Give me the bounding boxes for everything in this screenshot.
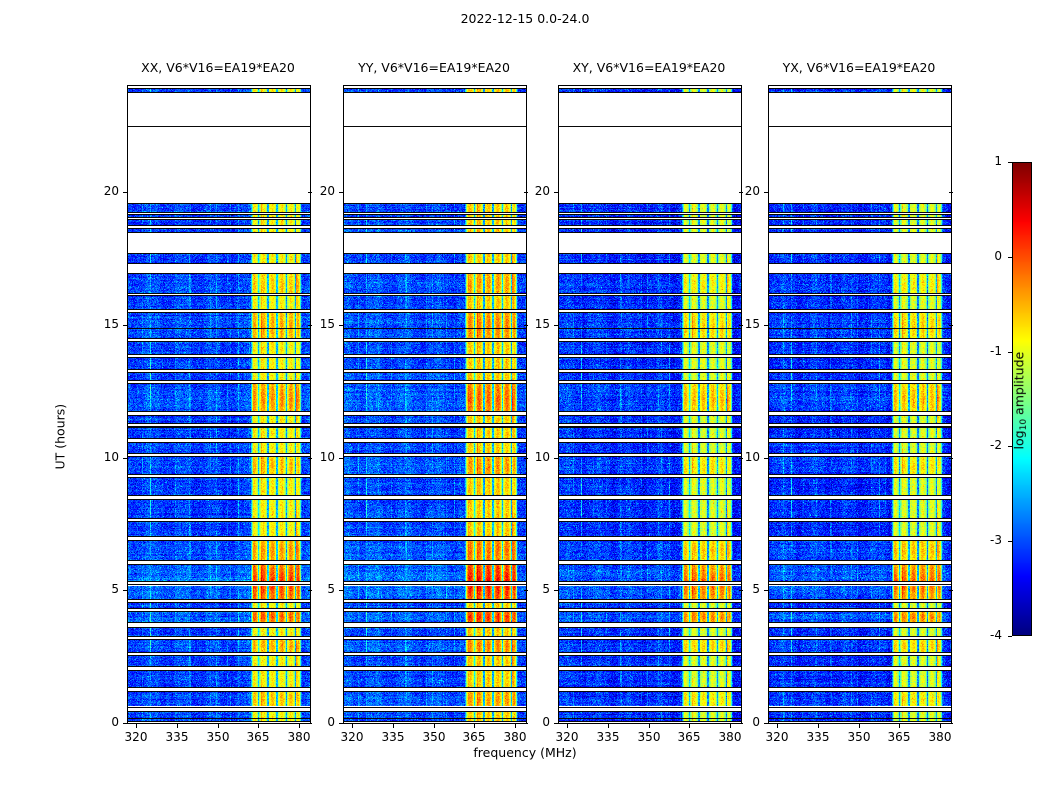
x-tick-label: 350 (198, 730, 238, 744)
y-tick-label: 15 (309, 317, 335, 331)
waterfall-panel-xx[interactable] (127, 85, 311, 724)
colorbar-tick (1008, 636, 1012, 637)
colorbar-tick (1008, 162, 1012, 163)
colorbar-tick (1008, 541, 1012, 542)
x-tick-label: 350 (414, 730, 454, 744)
y-tick (554, 723, 558, 724)
x-tick-label: 350 (629, 730, 669, 744)
x-tick-label: 380 (495, 730, 535, 744)
y-tick-label: 10 (93, 450, 119, 464)
y-tick-label: 0 (524, 715, 550, 729)
y-tick (764, 723, 768, 724)
x-tick-label: 365 (669, 730, 709, 744)
y-tick (123, 723, 127, 724)
panel-title-xx: XX, V6*V16=EA19*EA20 (97, 60, 339, 75)
y-tick (764, 590, 768, 591)
y-tick-right (949, 325, 953, 326)
y-tick (339, 590, 343, 591)
y-tick-label: 0 (734, 715, 760, 729)
x-tick-label: 350 (839, 730, 879, 744)
y-tick-label: 15 (734, 317, 760, 331)
y-tick-right (949, 458, 953, 459)
x-tick (608, 724, 609, 728)
colorbar-tick-label: -2 (976, 438, 1002, 452)
x-tick (859, 724, 860, 728)
x-tick-label: 380 (920, 730, 960, 744)
y-tick (123, 325, 127, 326)
colorbar-tick (1008, 257, 1012, 258)
x-tick (352, 724, 353, 728)
x-tick (474, 724, 475, 728)
y-tick (123, 192, 127, 193)
y-tick (764, 458, 768, 459)
x-tick (649, 724, 650, 728)
colorbar-tick-label: -4 (976, 628, 1002, 642)
colorbar-tick-label: 0 (976, 249, 1002, 263)
x-tick-label: 320 (116, 730, 156, 744)
y-tick-right (949, 192, 953, 193)
y-tick (123, 590, 127, 591)
y-tick-label: 5 (93, 582, 119, 596)
x-tick-label: 335 (373, 730, 413, 744)
x-tick (777, 724, 778, 728)
x-tick (258, 724, 259, 728)
y-tick (339, 723, 343, 724)
x-tick (299, 724, 300, 728)
x-tick-label: 335 (798, 730, 838, 744)
y-tick (554, 192, 558, 193)
x-tick-label: 365 (238, 730, 278, 744)
figure-suptitle: 2022-12-15 0.0-24.0 (0, 11, 1050, 26)
x-axis-label: frequency (MHz) (325, 745, 725, 760)
waterfall-panel-xy[interactable] (558, 85, 742, 724)
y-tick-label: 5 (734, 582, 760, 596)
waterfall-image-yx (769, 86, 951, 723)
waterfall-panel-yx[interactable] (768, 85, 952, 724)
x-tick (818, 724, 819, 728)
x-tick (177, 724, 178, 728)
y-tick (554, 325, 558, 326)
x-tick-label: 320 (547, 730, 587, 744)
waterfall-image-xx (128, 86, 310, 723)
panel-title-yx: YX, V6*V16=EA19*EA20 (738, 60, 980, 75)
x-tick (434, 724, 435, 728)
y-tick-label: 10 (734, 450, 760, 464)
y-axis-label: UT (hours) (53, 330, 68, 470)
x-tick-label: 335 (588, 730, 628, 744)
colorbar-tick-label: -3 (976, 533, 1002, 547)
y-tick-label: 10 (309, 450, 335, 464)
colorbar-tick-label: -1 (976, 344, 1002, 358)
x-tick (136, 724, 137, 728)
y-tick-label: 5 (524, 582, 550, 596)
y-tick (764, 192, 768, 193)
y-tick (764, 325, 768, 326)
y-tick (339, 458, 343, 459)
y-tick (339, 325, 343, 326)
y-tick-right (949, 590, 953, 591)
y-tick-label: 10 (524, 450, 550, 464)
figure-canvas: 2022-12-15 0.0-24.0 XX, V6*V16=EA19*EA20… (0, 0, 1050, 800)
x-tick (899, 724, 900, 728)
x-tick (218, 724, 219, 728)
y-tick (554, 590, 558, 591)
x-tick-label: 380 (279, 730, 319, 744)
y-tick-label: 0 (93, 715, 119, 729)
x-tick-label: 365 (879, 730, 919, 744)
y-tick-label: 20 (93, 184, 119, 198)
y-tick-label: 20 (524, 184, 550, 198)
panel-title-xy: XY, V6*V16=EA19*EA20 (528, 60, 770, 75)
x-tick-label: 335 (157, 730, 197, 744)
colorbar-label: log10 amplitude (1011, 281, 1028, 521)
waterfall-image-xy (559, 86, 741, 723)
x-tick (393, 724, 394, 728)
x-tick (940, 724, 941, 728)
colorbar-tick-label: 1 (976, 154, 1002, 168)
x-tick (689, 724, 690, 728)
x-tick-label: 365 (454, 730, 494, 744)
waterfall-panel-yy[interactable] (343, 85, 527, 724)
y-tick-label: 20 (734, 184, 760, 198)
panel-title-yy: YY, V6*V16=EA19*EA20 (313, 60, 555, 75)
y-tick (339, 192, 343, 193)
x-tick (515, 724, 516, 728)
y-tick-label: 0 (309, 715, 335, 729)
x-tick-label: 380 (710, 730, 750, 744)
x-tick (567, 724, 568, 728)
y-tick (123, 458, 127, 459)
y-tick-label: 15 (524, 317, 550, 331)
x-tick-label: 320 (757, 730, 797, 744)
y-tick-label: 15 (93, 317, 119, 331)
waterfall-image-yy (344, 86, 526, 723)
x-tick (730, 724, 731, 728)
y-tick-label: 5 (309, 582, 335, 596)
y-tick-label: 20 (309, 184, 335, 198)
x-tick-label: 320 (332, 730, 372, 744)
y-tick-right (949, 723, 953, 724)
y-tick (554, 458, 558, 459)
